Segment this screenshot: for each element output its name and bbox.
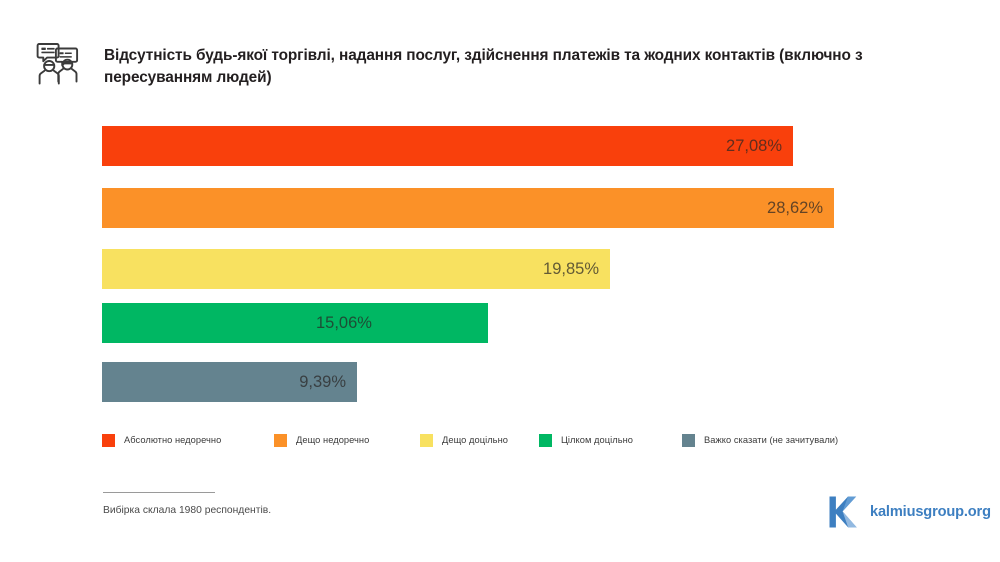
bar-value-label: 9,39%	[299, 362, 346, 402]
chart-legend: Абсолютно недоречно Дещо недоречно Дещо …	[102, 431, 902, 449]
legend-item-label: Важко сказати (не зачитували)	[704, 435, 838, 445]
footnote-divider	[103, 492, 215, 493]
legend-item-label: Дещо доцільно	[442, 435, 508, 445]
bar-row: 27,08%	[102, 126, 793, 166]
bar-row: 9,39%	[102, 362, 357, 402]
legend-item-label: Цілком доцільно	[561, 435, 633, 445]
horizontal-bar-chart: 27,08% 28,62% 19,85% 15,06% 9,39% Абсолю…	[0, 0, 1000, 562]
footnote-text: Вибірка склала 1980 респондентів.	[103, 505, 271, 516]
bar-value-label: 27,08%	[726, 126, 782, 166]
bar-row: 28,62%	[102, 188, 834, 228]
bar-somewhat-inappropriate[interactable]	[102, 188, 834, 228]
legend-item-hard-to-say[interactable]: Важко сказати (не зачитували)	[682, 431, 838, 449]
legend-swatch-icon	[682, 434, 695, 447]
legend-item-somewhat-appropriate[interactable]: Дещо доцільно	[420, 431, 508, 449]
brand-logo[interactable]: kalmiusgroup.org	[824, 492, 991, 532]
kalmius-k-logo-icon	[824, 492, 864, 532]
bar-row: 15,06%	[102, 303, 488, 343]
bar-row: 19,85%	[102, 249, 610, 289]
brand-logo-text: kalmiusgroup.org	[870, 504, 991, 520]
legend-item-fully-appropriate[interactable]: Цілком доцільно	[539, 431, 633, 449]
legend-item-label: Абсолютно недоречно	[124, 435, 221, 445]
bar-value-label: 28,62%	[767, 188, 823, 228]
bar-value-label: 19,85%	[543, 249, 599, 289]
legend-item-somewhat-inappropriate[interactable]: Дещо недоречно	[274, 431, 369, 449]
bar-somewhat-appropriate[interactable]	[102, 249, 610, 289]
legend-item-absolutely-inappropriate[interactable]: Абсолютно недоречно	[102, 431, 221, 449]
slide-root: Відсутність будь-якої торгівлі, надання …	[0, 0, 1000, 562]
bar-absolutely-inappropriate[interactable]	[102, 126, 793, 166]
legend-swatch-icon	[102, 434, 115, 447]
legend-swatch-icon	[274, 434, 287, 447]
bar-fully-appropriate[interactable]	[102, 303, 488, 343]
legend-swatch-icon	[420, 434, 433, 447]
legend-item-label: Дещо недоречно	[296, 435, 369, 445]
legend-swatch-icon	[539, 434, 552, 447]
bar-value-label: 15,06%	[316, 303, 372, 343]
